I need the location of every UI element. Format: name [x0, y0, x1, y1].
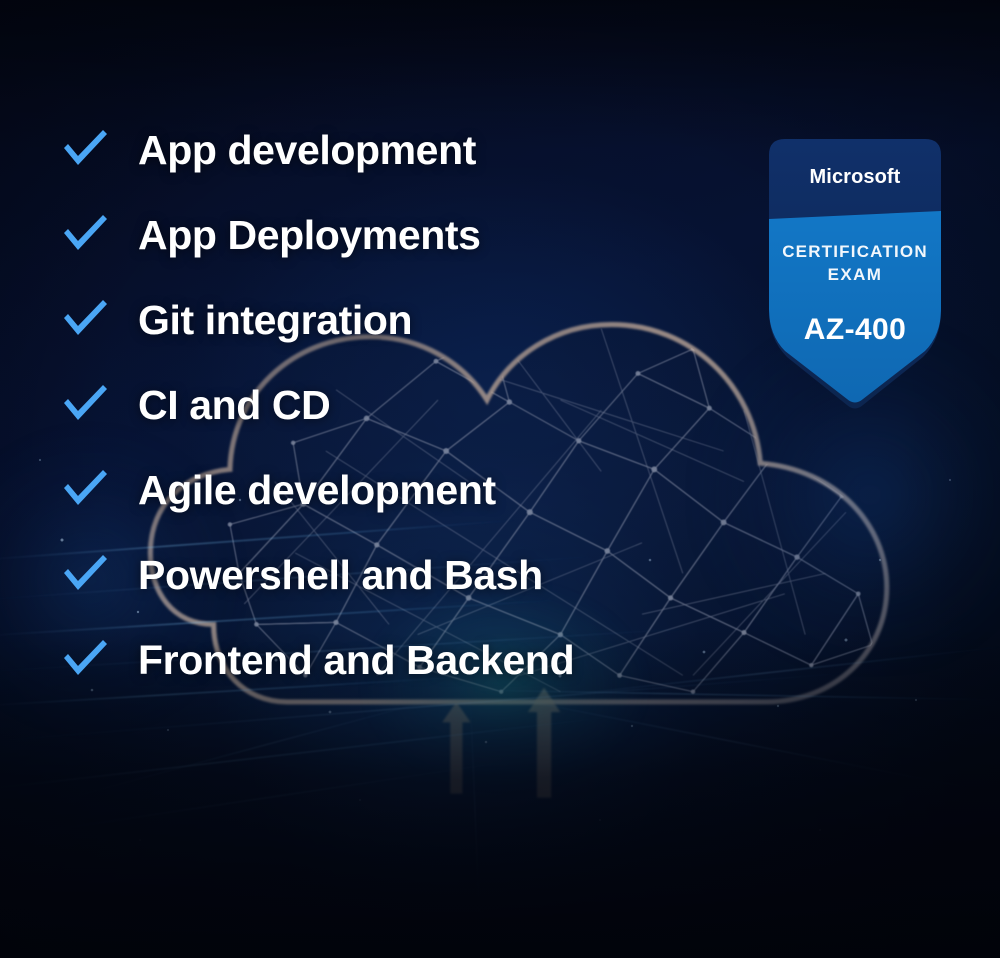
check-icon — [58, 207, 110, 264]
list-item-label: Agile development — [138, 470, 496, 511]
check-icon — [58, 292, 110, 349]
check-icon — [58, 122, 110, 179]
check-icon — [58, 462, 110, 519]
list-item-label: Git integration — [138, 300, 412, 341]
list-item-label: Powershell and Bash — [138, 555, 543, 596]
check-icon — [58, 547, 110, 604]
list-item: Agile development — [58, 448, 758, 533]
promo-graphic: App development App Deployments Git inte… — [0, 0, 1000, 958]
list-item: Frontend and Backend — [58, 618, 758, 703]
check-icon — [58, 632, 110, 689]
list-item: Git integration — [58, 278, 758, 363]
certification-shield-icon: Microsoft CERTIFICATION EXAM AZ-400 — [755, 133, 955, 415]
feature-list: App development App Deployments Git inte… — [58, 108, 758, 703]
list-item-label: Frontend and Backend — [138, 640, 574, 681]
check-icon — [58, 377, 110, 434]
list-item: CI and CD — [58, 363, 758, 448]
list-item-label: App Deployments — [138, 215, 481, 256]
list-item-label: App development — [138, 130, 476, 171]
list-item-label: CI and CD — [138, 385, 330, 426]
list-item: App Deployments — [58, 193, 758, 278]
list-item: Powershell and Bash — [58, 533, 758, 618]
list-item: App development — [58, 108, 758, 193]
